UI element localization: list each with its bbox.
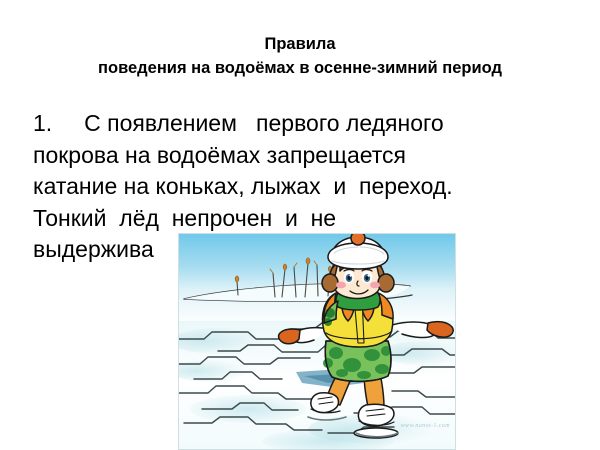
illustration-inner: www.nanot-1.com xyxy=(178,233,456,450)
slide-canvas: Правила поведения на водоёмах в осенне-з… xyxy=(0,0,600,450)
body-line-1: 1. С появлением первого ледяного xyxy=(33,108,573,140)
title-line-2: поведения на водоёмах в осенне-зимний пе… xyxy=(0,56,600,80)
body-line-2: покрова на водоёмах запрещается xyxy=(33,140,573,172)
illustration-girl-skating: www.nanot-1.com xyxy=(178,233,456,450)
title-line-1: Правила xyxy=(0,32,600,56)
body-line-3: катание на коньках, лыжах и переход. xyxy=(33,171,573,203)
illustration-watermark: www.nanot-1.com xyxy=(401,423,450,429)
slide-title: Правила поведения на водоёмах в осенне-з… xyxy=(0,32,600,80)
body-line-4: Тонкий лёд непрочен и не xyxy=(33,203,573,235)
girl-skating-on-cracking-ice-image xyxy=(178,233,456,450)
